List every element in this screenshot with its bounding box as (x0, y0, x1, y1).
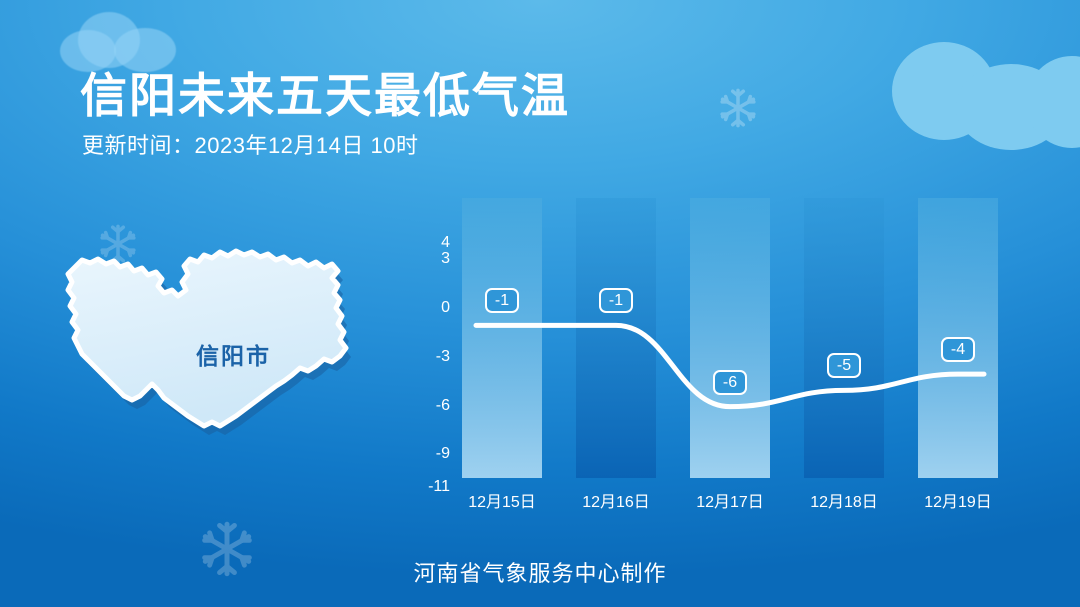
chart-band (462, 198, 542, 478)
snowflake-icon (716, 86, 760, 130)
weather-forecast-graphic: 信阳未来五天最低气温 更新时间：2023年12月14日 10时 信阳市 (0, 0, 1080, 607)
map-city-label: 信阳市 (196, 337, 271, 371)
y-axis-tick: 0 (404, 299, 450, 317)
value-badge: -1 (599, 288, 633, 313)
x-axis-tick: 12月15日 (442, 488, 562, 512)
chart-bands (462, 198, 998, 478)
y-axis-tick: -3 (404, 348, 450, 366)
footer-credit: 河南省气象服务中心制作 (0, 556, 1080, 588)
value-badge: -5 (827, 353, 861, 378)
page-title: 信阳未来五天最低气温 (80, 57, 570, 126)
y-axis-tick: 3 (404, 250, 450, 268)
y-axis-tick: -6 (404, 397, 450, 415)
chart-band (804, 198, 884, 478)
cloud-icon (886, 22, 1080, 142)
x-axis-tick: 12月16日 (556, 488, 676, 512)
value-badge: -6 (713, 370, 747, 395)
chart-band (576, 198, 656, 478)
x-axis-tick: 12月18日 (784, 488, 904, 512)
value-badge: -1 (485, 288, 519, 313)
x-axis-tick: 12月17日 (670, 488, 790, 512)
update-time-label: 更新时间：2023年12月14日 10时 (82, 128, 418, 160)
chart-band (690, 198, 770, 478)
x-axis-tick: 12月19日 (898, 488, 1018, 512)
y-axis-tick: -9 (404, 445, 450, 463)
y-axis: 430-3-6-9-11 (404, 190, 450, 490)
value-badge: -4 (941, 337, 975, 362)
